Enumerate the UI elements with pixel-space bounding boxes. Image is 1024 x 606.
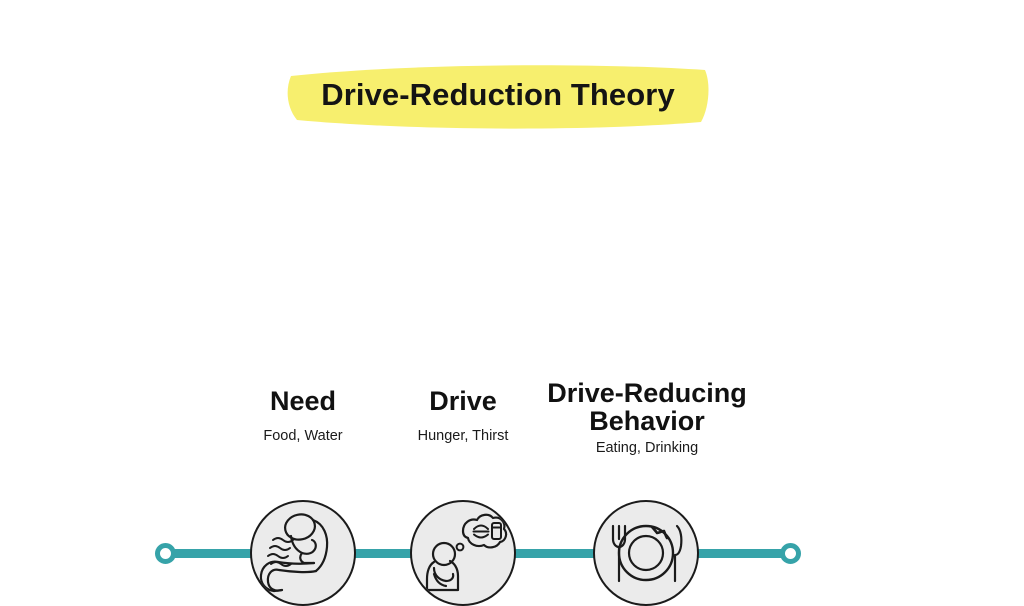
node-title-drive: Drive [363, 387, 563, 415]
label-group-drive: Drive Hunger, Thirst [363, 387, 563, 444]
timeline-node-behavior[interactable] [593, 500, 699, 606]
timeline-start-endpoint [155, 543, 176, 564]
timeline-segment-3 [510, 549, 599, 558]
page-title: Drive-Reduction Theory [283, 60, 713, 132]
timeline-node-drive[interactable] [410, 500, 516, 606]
person-hunched-stomach-pain-icon [252, 502, 354, 604]
person-thought-bubble-food-drink-icon [412, 502, 514, 604]
timeline-end-endpoint [780, 543, 801, 564]
node-subtitle-drive: Hunger, Thirst [363, 428, 563, 444]
node-subtitle-behavior: Eating, Drinking [546, 440, 748, 456]
title-block: Drive-Reduction Theory [283, 60, 713, 132]
node-circle-drive [410, 500, 516, 606]
node-title-behavior: Drive-Reducing Behavior [546, 379, 748, 435]
timeline-segment-2 [350, 549, 416, 558]
slide-canvas: Drive-Reduction Theory [0, 0, 1024, 571]
timeline [0, 240, 1024, 390]
timeline-segment-1 [170, 549, 256, 558]
timeline-segment-4 [693, 549, 790, 558]
timeline-node-need[interactable] [250, 500, 356, 606]
fork-plate-knife-icon [595, 502, 697, 604]
node-circle-behavior [593, 500, 699, 606]
node-circle-need [250, 500, 356, 606]
label-group-behavior: Drive-Reducing Behavior Eating, Drinking [546, 379, 748, 456]
